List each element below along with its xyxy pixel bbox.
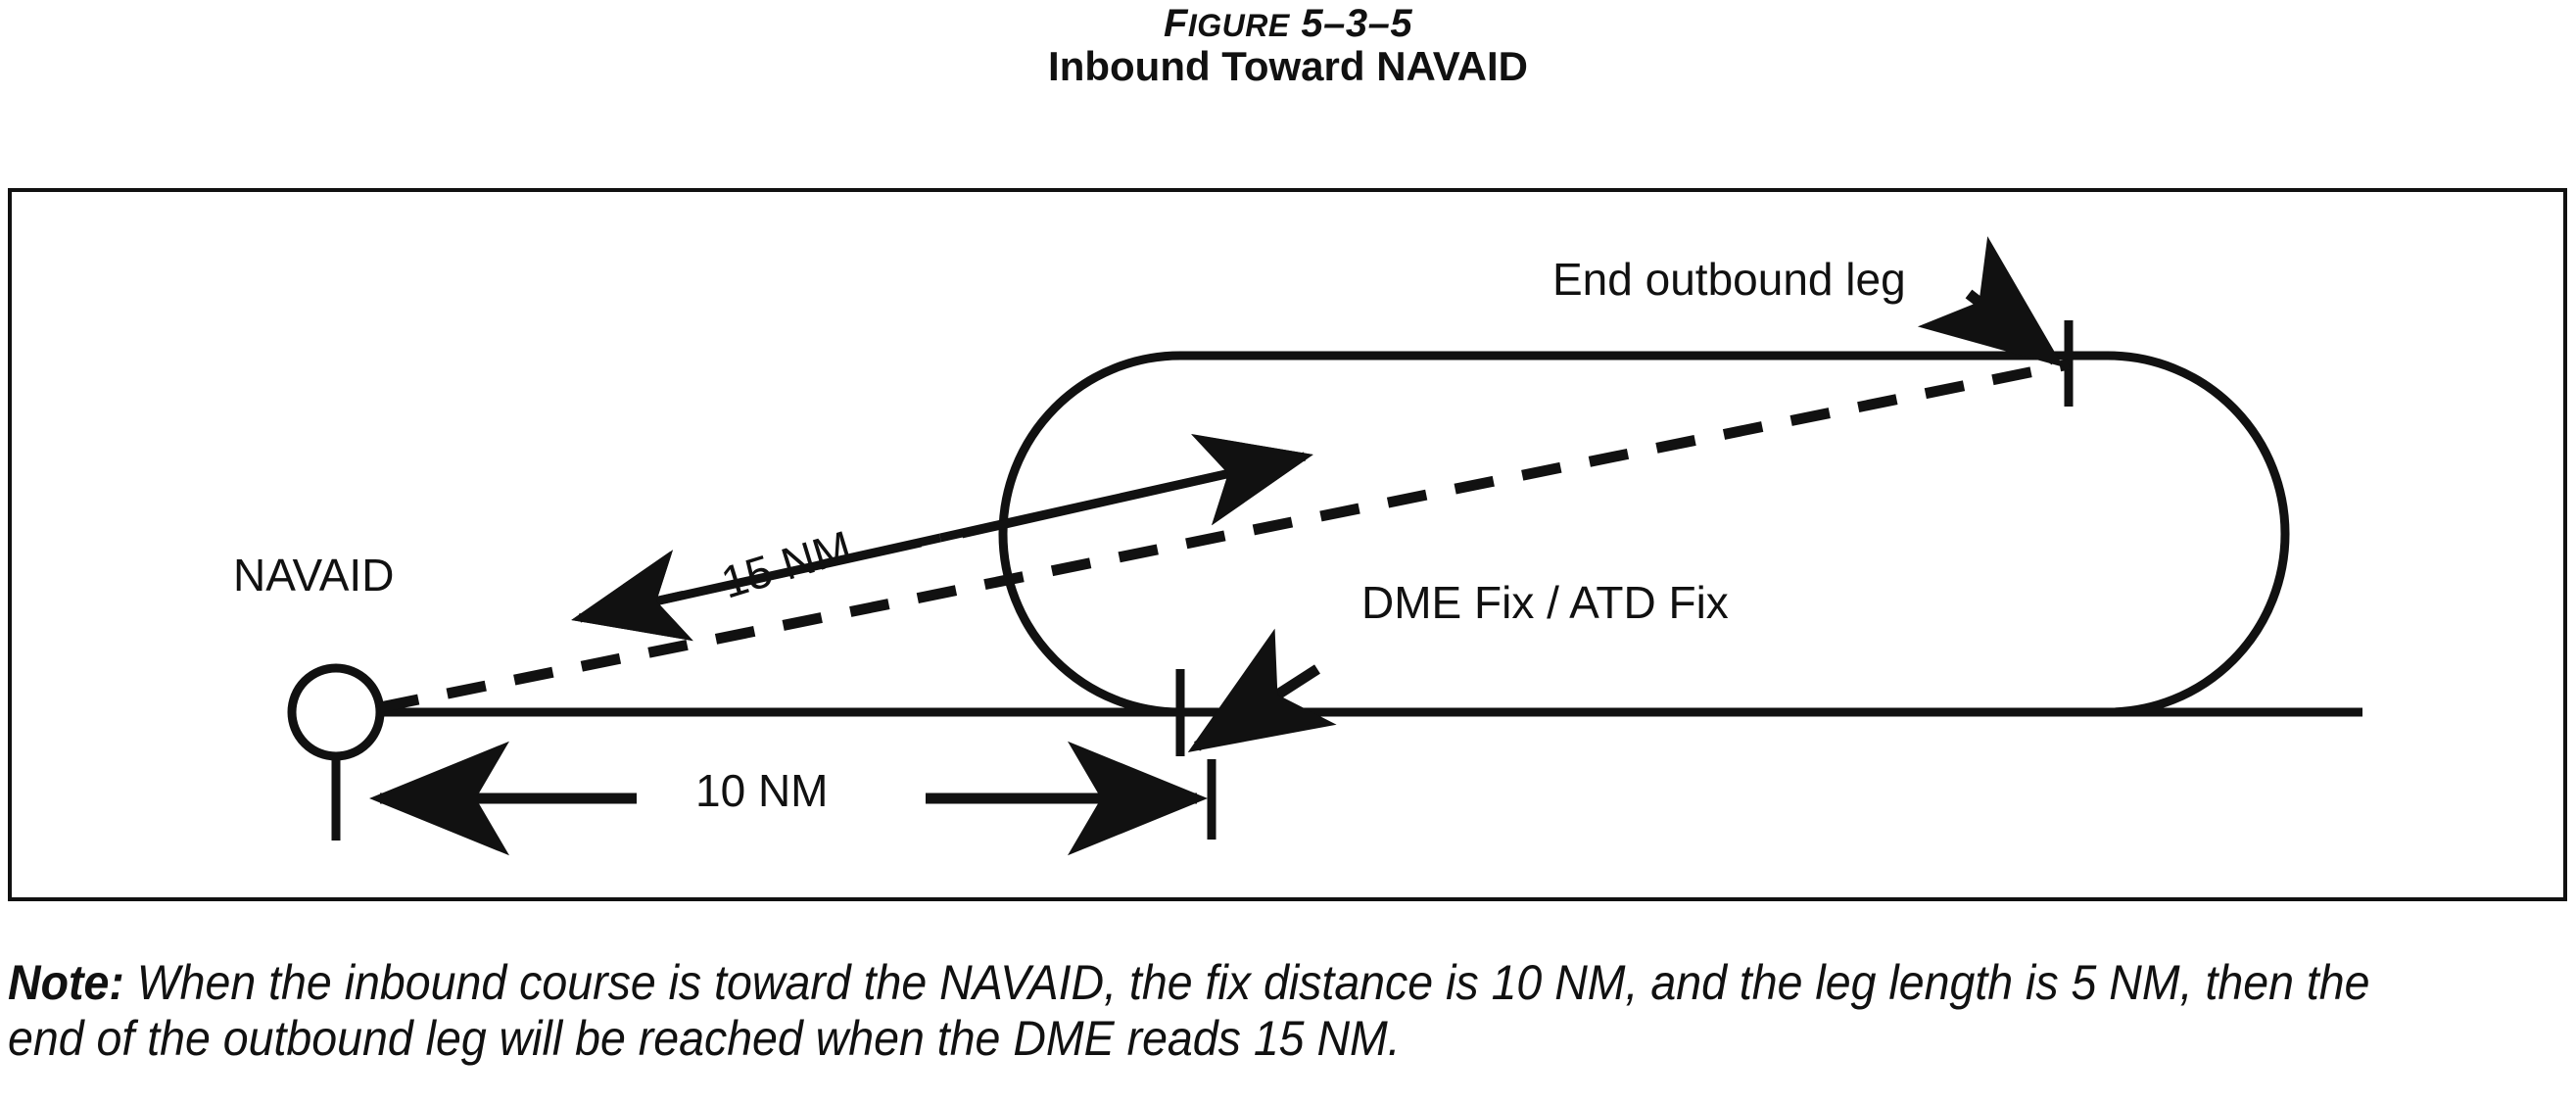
figure-number-title: FIGURE 5–3–5: [0, 2, 2576, 46]
distance-10nm-label: 10 NM: [695, 764, 828, 817]
figure-note: Note: When the inbound course is toward …: [8, 955, 2390, 1066]
figure-page: FIGURE 5–3–5 Inbound Toward NAVAID: [0, 0, 2576, 1105]
figure-frame-border: [8, 188, 2567, 901]
figure-number-text: FIGURE 5–3–5: [1164, 2, 1412, 45]
end-outbound-leg-label: End outbound leg: [1552, 253, 1906, 306]
dme-fix-label: DME Fix / ATD Fix: [1361, 576, 1729, 629]
navaid-label: NAVAID: [233, 549, 394, 601]
figure-subtitle: Inbound Toward NAVAID: [0, 43, 2576, 90]
note-lead-label: Note:: [8, 955, 124, 1010]
note-body-text: When the inbound course is toward the NA…: [8, 955, 2370, 1066]
